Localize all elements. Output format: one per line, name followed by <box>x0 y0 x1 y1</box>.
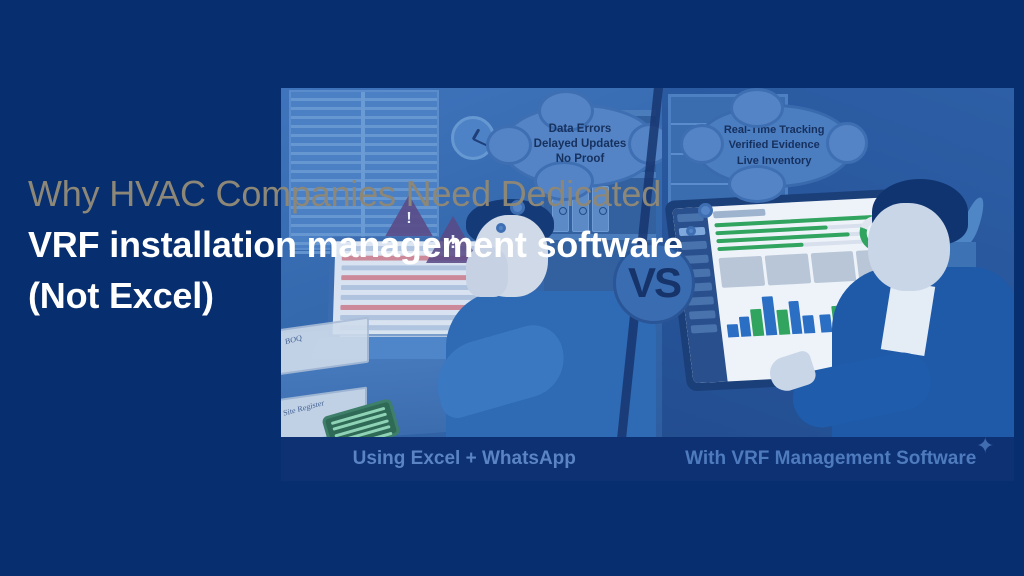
headline-muted-text: Why HVAC Companies Need Dedicated <box>28 173 661 214</box>
bubble-right-line-1: Real-Time Tracking <box>724 123 825 138</box>
right-scene-vrf-software: Real-Time Tracking Verified Evidence Liv… <box>662 88 1014 481</box>
bubble-left-line-3: No Proof <box>504 152 656 167</box>
paper-label-site-register: Site Register <box>283 398 325 418</box>
caption-left: Using Excel + WhatsApp <box>281 448 648 470</box>
slide-canvas: BOQ Site Register ! ! <box>0 0 1024 576</box>
thought-bubble-right: Real-Time Tracking Verified Evidence Liv… <box>694 104 854 188</box>
sparkle-icon: ✦ <box>976 435 998 457</box>
professional-user-illustration <box>828 175 1014 445</box>
page-title: Why HVAC Companies Need Dedicated VRF in… <box>28 168 700 321</box>
headline-strong-text: VRF installation management software (No… <box>28 224 683 316</box>
caption-bar: Using Excel + WhatsApp With VRF Manageme… <box>281 437 1014 481</box>
bubble-right-line-3: Live Inventory <box>724 154 825 169</box>
bubble-left-line-2: Delayed Updates <box>504 137 656 152</box>
bubble-left-line-1: Data Errors <box>504 122 656 137</box>
bubble-right-line-2: Verified Evidence <box>724 138 825 153</box>
caption-right: With VRF Management Software <box>648 448 1015 470</box>
paper-label-boq: BOQ <box>285 333 303 346</box>
